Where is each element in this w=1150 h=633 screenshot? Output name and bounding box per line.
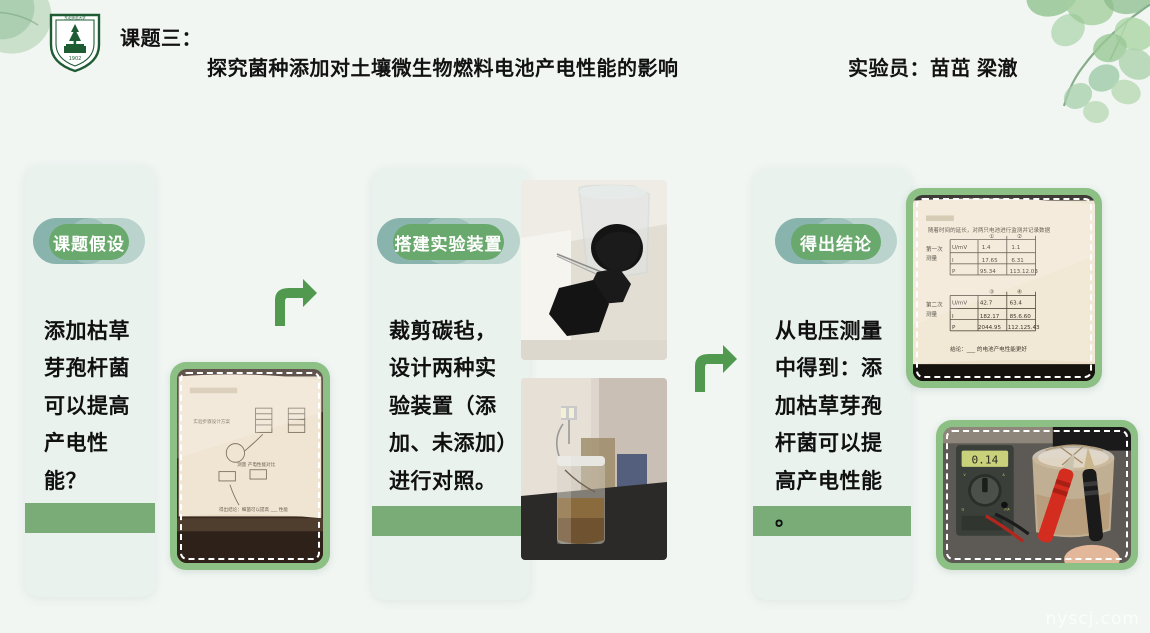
card-accent-bar [25, 503, 155, 533]
photo-image [521, 378, 667, 560]
svg-text:东北师范大学: 东北师范大学 [64, 15, 86, 20]
photo-image: 随着时间的延长，对两只电池进行监测并记录数据 [913, 195, 1095, 381]
photo-handwritten-experiment-plan[interactable]: 实验步骤设计方案 测量 产电性能对比 得出结论：细菌可以提高 ___ 性能 [170, 362, 330, 570]
svg-text:182.17: 182.17 [980, 314, 1000, 320]
university-crest-icon: 1902 东北师范大学 [47, 11, 103, 73]
topic-label: 课题三： [120, 22, 202, 51]
page-title: 探究菌种添加对土壤微生物燃料电池产电性能的影响 [207, 52, 679, 81]
card-accent-bar [372, 506, 530, 536]
svg-text:63.4: 63.4 [1010, 301, 1023, 307]
svg-text:42.7: 42.7 [980, 301, 993, 307]
photo-multimeter-measurement[interactable]: 0.14 VA ΩmA [936, 420, 1138, 570]
photo-voltage-data-table[interactable]: 随着时间的延长，对两只电池进行监测并记录数据 [906, 188, 1102, 388]
photo-image [521, 180, 667, 360]
site-watermark: nyscj.com [1046, 609, 1140, 629]
badge-pill-main: 课题假设 [49, 224, 129, 260]
svg-text:2044.95: 2044.95 [978, 325, 1001, 331]
flow-arrow-1-icon [267, 276, 319, 328]
card-setup-text: 裁剪碳毡，设计两种实验装置（添加、未添加）进行对照。 [389, 313, 509, 500]
svg-text:0.14: 0.14 [971, 453, 998, 466]
svg-text:④: ④ [1017, 290, 1022, 296]
badge-pill-main: 搭建实验装置 [393, 224, 504, 260]
badge-conclusion: 得出结论 [775, 218, 897, 264]
slide-header: 1902 东北师范大学 课题三： 探究菌种添加对土壤微生物燃料电池产电性能的影响… [0, 0, 1150, 108]
photo-carbon-felt-electrodes[interactable] [521, 180, 667, 360]
svg-text:112.125.43: 112.125.43 [1008, 325, 1040, 331]
svg-text:85.6.60: 85.6.60 [1010, 314, 1032, 320]
photo-image: 0.14 VA ΩmA [943, 427, 1131, 563]
photo-image: 实验步骤设计方案 测量 产电性能对比 得出结论：细菌可以提高 ___ 性能 [177, 369, 323, 563]
badge-label: 搭建实验装置 [395, 230, 503, 255]
photo-microbial-fuel-cell-device[interactable] [521, 378, 667, 560]
badge-label: 课题假设 [53, 230, 125, 255]
badge-setup: 搭建实验装置 [377, 218, 520, 264]
badge-label: 得出结论 [800, 230, 872, 255]
svg-text:结论：___ 的电池产电性能更好: 结论：___ 的电池产电性能更好 [950, 345, 1027, 353]
slide-root: 1902 东北师范大学 课题三： 探究菌种添加对土壤微生物燃料电池产电性能的影响… [0, 0, 1150, 633]
badge-hypothesis: 课题假设 [33, 218, 145, 264]
flow-arrow-2-icon [687, 342, 739, 394]
card-conclusion-text: 从电压测量中得到：添加枯草芽孢杆菌可以提高产电性能 。 [775, 313, 895, 537]
svg-text:1902: 1902 [69, 56, 82, 62]
badge-pill-main: 得出结论 [791, 224, 881, 260]
authors-label: 实验员：苗茁 梁澈 [848, 52, 1018, 81]
card-hypothesis-text: 添加枯草芽孢杆菌可以提高产电性能？ [44, 313, 140, 500]
